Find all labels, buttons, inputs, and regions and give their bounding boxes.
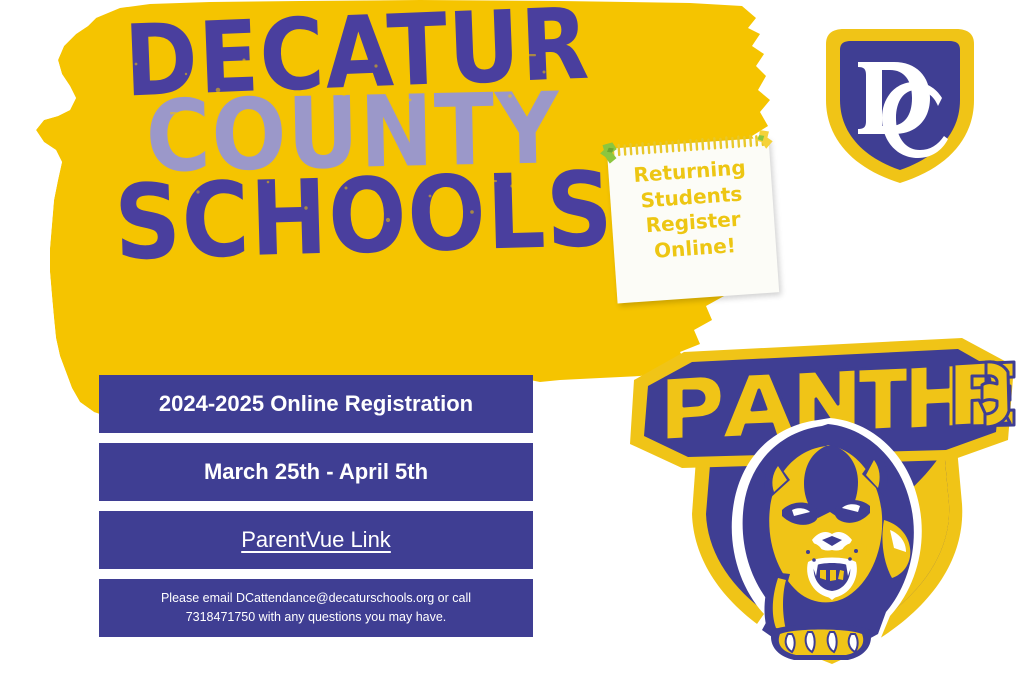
dc-shield-logo: [814, 26, 986, 186]
registration-dates-text: March 25th - April 5th: [204, 459, 428, 485]
contact-line-1: Please email DCattendance@decaturschools…: [161, 589, 471, 608]
contact-info-box: Please email DCattendance@decaturschools…: [99, 579, 533, 637]
yellow-tape-icon: [754, 128, 775, 151]
registration-info-stack: 2024-2025 Online Registration March 25th…: [99, 375, 533, 637]
notepad-message: Returning Students Register Online!: [608, 153, 777, 266]
green-tape-icon: [599, 142, 620, 165]
registration-title-box: 2024-2025 Online Registration: [99, 375, 533, 433]
panthers-mascot-logo: [622, 334, 1022, 679]
notepad-sticky-note: Returning Students Register Online!: [607, 138, 779, 304]
headline-line-schools: Schools: [79, 165, 649, 267]
registration-title-text: 2024-2025 Online Registration: [159, 391, 473, 417]
contact-info-text: Please email DCattendance@decaturschools…: [161, 589, 471, 627]
parentvue-link[interactable]: ParentVue Link: [241, 527, 391, 553]
parentvue-link-box[interactable]: ParentVue Link: [99, 511, 533, 569]
registration-dates-box: March 25th - April 5th: [99, 443, 533, 501]
flyer-headline: Decatur County Schools: [58, 16, 648, 255]
contact-line-2: 7318471750 with any questions you may ha…: [161, 608, 471, 627]
flyer-canvas: Decatur County Schools: [0, 0, 1024, 683]
